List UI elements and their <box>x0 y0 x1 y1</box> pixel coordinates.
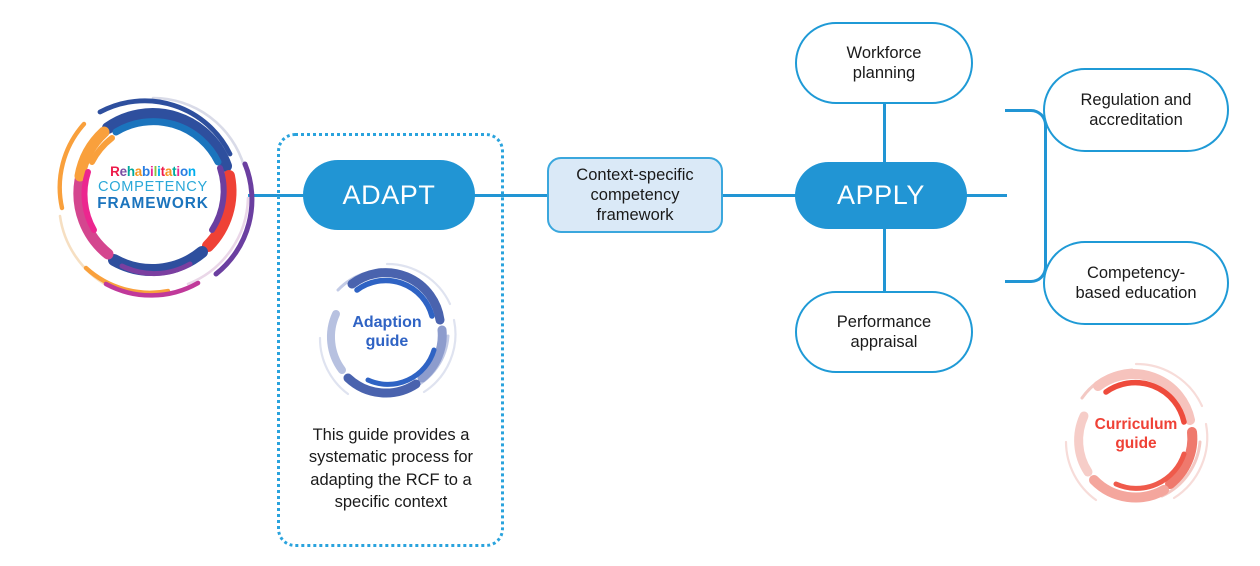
connector-bracket-right <box>1005 109 1047 283</box>
rcf-logo: Rehabilitation COMPETENCY FRAMEWORK <box>48 88 258 300</box>
curriculum-guide-line2: guide <box>1058 435 1214 454</box>
connector-apply-to-performance <box>883 218 886 296</box>
workforce-planning-line1: Workforce <box>847 43 922 63</box>
competency-based-education-line1: Competency- <box>1087 263 1185 283</box>
diagram-canvas: Rehabilitation COMPETENCY FRAMEWORK ADAP… <box>0 0 1260 566</box>
adapt-node-label: ADAPT <box>342 179 435 212</box>
regulation-accreditation-line2: accreditation <box>1089 110 1183 130</box>
adaption-guide-logo[interactable]: Adaption guide <box>312 258 462 408</box>
connector-apply-to-bracket <box>963 194 1007 197</box>
context-framework-line2: competency <box>591 185 680 205</box>
competency-based-education-line2: based education <box>1075 283 1196 303</box>
output-node-regulation-and-accreditation[interactable]: Regulation and accreditation <box>1043 68 1229 152</box>
output-node-workforce-planning[interactable]: Workforce planning <box>795 22 973 104</box>
adaption-guide-line1: Adaption <box>312 313 462 332</box>
curriculum-guide-line1: Curriculum <box>1058 416 1214 435</box>
performance-appraisal-line2: appraisal <box>851 332 918 352</box>
regulation-accreditation-line1: Regulation and <box>1080 90 1191 110</box>
performance-appraisal-line1: Performance <box>837 312 931 332</box>
adapt-node[interactable]: ADAPT <box>303 160 475 230</box>
curriculum-guide-logo[interactable]: Curriculum guide <box>1058 358 1214 514</box>
workforce-planning-line2: planning <box>853 63 915 83</box>
adapt-caption: This guide provides a systematic process… <box>290 424 492 513</box>
adaption-guide-line2: guide <box>312 332 462 351</box>
apply-node-label: APPLY <box>837 179 925 212</box>
output-node-performance-appraisal[interactable]: Performance appraisal <box>795 291 973 373</box>
output-node-competency-based-education[interactable]: Competency- based education <box>1043 241 1229 325</box>
apply-node[interactable]: APPLY <box>795 162 967 229</box>
rcf-logo-rings <box>48 88 258 300</box>
context-framework-line1: Context-specific <box>576 165 693 185</box>
context-specific-framework-node[interactable]: Context-specific competency framework <box>547 157 723 233</box>
context-framework-line3: framework <box>596 205 673 225</box>
